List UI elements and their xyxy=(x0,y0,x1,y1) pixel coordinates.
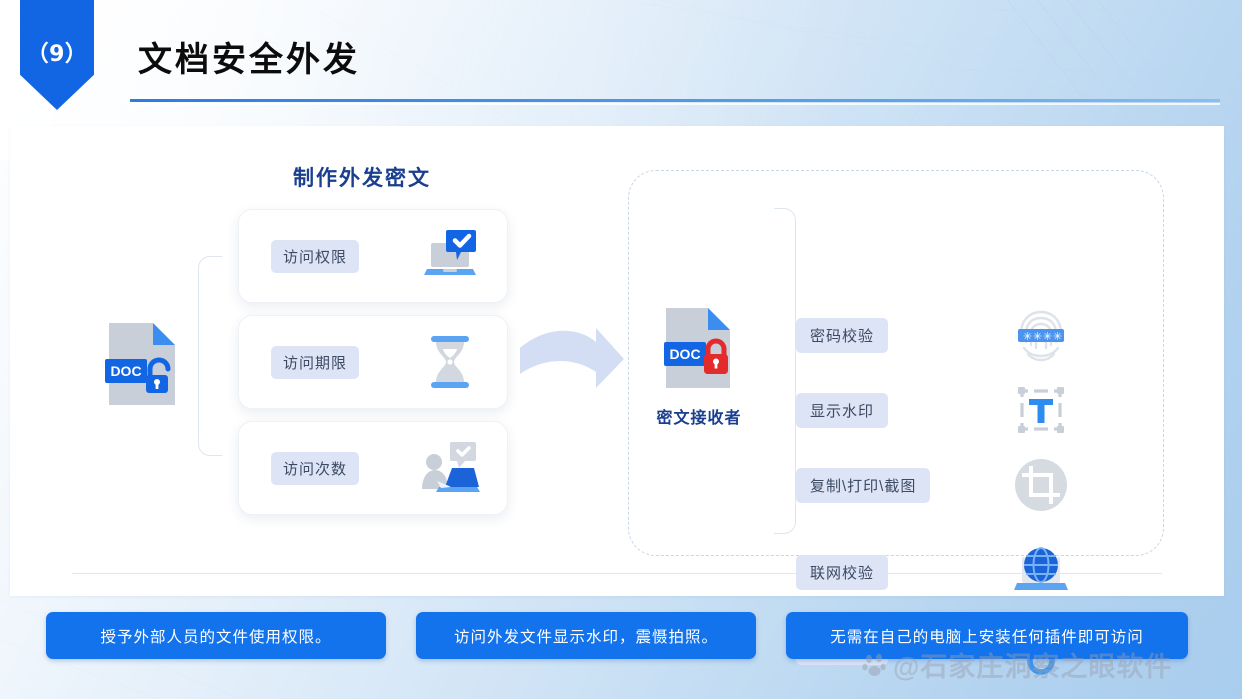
section-number-text: （9） xyxy=(27,36,88,68)
summary-pill-2-label: 访问外发文件显示水印，震慑拍照。 xyxy=(454,625,718,647)
feature-label: 复制\打印\截图 xyxy=(796,468,930,503)
feature-label: 密码校验 xyxy=(796,318,888,353)
content-card: 制作外发密文 DOC 访问权限 xyxy=(10,126,1224,596)
receiver-document-locked-icon: DOC xyxy=(662,306,734,390)
summary-pill-3[interactable]: 无需在自己的电脑上安装任何插件即可访问 xyxy=(786,612,1188,659)
slide-header: （9） 文档安全外发 xyxy=(0,0,1242,126)
svg-text:✳: ✳ xyxy=(1033,330,1042,343)
title-underline-highlight xyxy=(130,103,1220,105)
right-branch-connector xyxy=(774,208,796,534)
fingerprint-password-icon: ✳✳ ✳✳ xyxy=(1012,306,1070,364)
section-number-badge: （9） xyxy=(20,0,94,110)
option-label: 访问权限 xyxy=(271,240,359,273)
option-card-access-count[interactable]: 访问次数 xyxy=(238,421,508,515)
feature-row-password-verify[interactable]: 密码校验 ✳✳ ✳✳ xyxy=(796,314,1136,356)
laptop-check-icon xyxy=(419,225,481,287)
page-title: 文档安全外发 xyxy=(138,32,360,81)
person-laptop-check-icon xyxy=(419,437,481,499)
curved-right-arrow-icon xyxy=(518,326,626,406)
option-label: 访问期限 xyxy=(271,346,359,379)
summary-pill-1[interactable]: 授予外部人员的文件使用权限。 xyxy=(46,612,386,659)
slide: （9） 文档安全外发 制作外发密文 DOC 访问权限 xyxy=(0,0,1242,699)
globe-laptop-icon xyxy=(1012,543,1070,601)
svg-text:DOC: DOC xyxy=(110,363,141,379)
summary-pill-1-label: 授予外部人员的文件使用权限。 xyxy=(100,625,331,647)
feature-row-copy-print-screenshot[interactable]: 复制\打印\截图 xyxy=(796,464,1136,506)
svg-text:DOC: DOC xyxy=(669,346,700,362)
source-document-unlocked-icon: DOC xyxy=(105,321,179,407)
title-underline xyxy=(130,99,1220,102)
summary-pill-2[interactable]: 访问外发文件显示水印，震慑拍照。 xyxy=(416,612,756,659)
receiver-label: 密文接收者 xyxy=(640,404,758,428)
left-branch-connector xyxy=(198,256,222,456)
option-card-access-period[interactable]: 访问期限 xyxy=(238,315,508,409)
option-label: 访问次数 xyxy=(271,452,359,485)
crop-screenshot-icon xyxy=(1012,456,1070,514)
feature-row-network-verify[interactable]: 联网校验 xyxy=(796,551,1136,593)
svg-text:✳: ✳ xyxy=(1053,330,1062,343)
svg-text:✳: ✳ xyxy=(1023,330,1032,343)
hourglass-icon xyxy=(419,331,481,393)
svg-text:✳: ✳ xyxy=(1043,330,1052,343)
watermark-text-icon xyxy=(1012,381,1070,439)
left-section-title: 制作外发密文 xyxy=(293,162,431,192)
summary-pill-3-label: 无需在自己的电脑上安装任何插件即可访问 xyxy=(830,625,1144,647)
feature-label: 联网校验 xyxy=(796,555,888,590)
feature-label: 显示水印 xyxy=(796,393,888,428)
feature-row-show-watermark[interactable]: 显示水印 xyxy=(796,389,1136,431)
option-card-access-permission[interactable]: 访问权限 xyxy=(238,209,508,303)
